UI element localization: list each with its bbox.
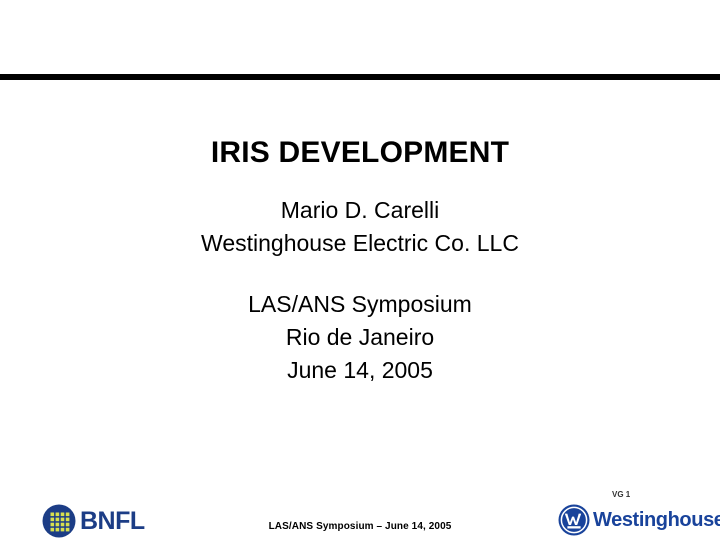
event-location: Rio de Janeiro: [0, 321, 720, 354]
event-name: LAS/ANS Symposium: [0, 288, 720, 321]
body-spacer: [0, 260, 720, 288]
westinghouse-logo: Westinghouse: [558, 503, 708, 537]
slide-body: Mario D. Carelli Westinghouse Electric C…: [0, 194, 720, 387]
event-date: June 14, 2005: [0, 354, 720, 387]
westinghouse-wordmark: Westinghouse: [593, 509, 720, 531]
author-name: Mario D. Carelli: [0, 194, 720, 227]
header-divider-rule: [0, 74, 720, 80]
bnfl-logo: BNFL: [42, 503, 152, 539]
page-title: IRIS DEVELOPMENT: [0, 136, 720, 170]
page-number-marker: VG 1: [612, 490, 630, 499]
westinghouse-circle-w-icon: [558, 504, 590, 536]
author-affiliation: Westinghouse Electric Co. LLC: [0, 227, 720, 260]
slide-canvas: IRIS DEVELOPMENT Mario D. Carelli Westin…: [0, 0, 720, 540]
bnfl-circle-grid-icon: [42, 504, 76, 538]
bnfl-wordmark: BNFL: [80, 508, 145, 534]
